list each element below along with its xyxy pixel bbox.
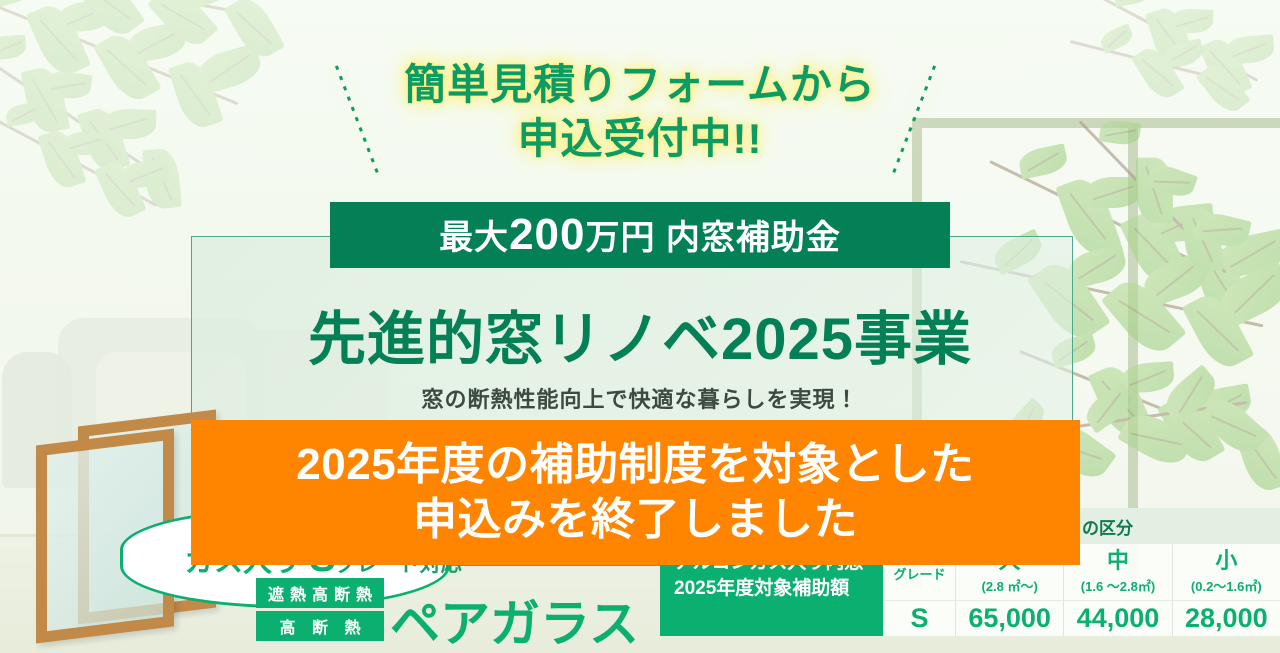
leaf-icon bbox=[0, 0, 38, 8]
leaf-icon bbox=[1097, 23, 1135, 53]
leaf-icon bbox=[1113, 0, 1154, 7]
size-range: (1.6 〜2.8㎡) bbox=[1081, 576, 1155, 595]
headline-line-1: 簡単見積りフォームから bbox=[0, 58, 1280, 112]
size-label: 中 bbox=[1107, 549, 1129, 573]
table-cell-value: 65,000 bbox=[956, 600, 1063, 636]
badge-amount: 200 bbox=[509, 210, 585, 259]
leaf-icon bbox=[1065, 243, 1130, 289]
table-cell-value: 44,000 bbox=[1064, 600, 1171, 636]
page-title: 先進的窓リノベ2025事業 bbox=[0, 292, 1280, 376]
size-range: (2.8 ㎡〜) bbox=[981, 576, 1037, 595]
closed-notice-line-2: 申込みを終了しました bbox=[296, 493, 974, 548]
feature-tag: 高 断 熱 bbox=[256, 611, 384, 641]
banner-root: 簡単見積りフォームから 申込受付中!! 最大200万円 内窓補助金 先進的窓リノ… bbox=[0, 0, 1280, 653]
table-cell-value: 28,000 bbox=[1173, 600, 1280, 636]
closed-notice-text: 2025年度の補助制度を対象とした 申込みを終了しました bbox=[296, 438, 974, 547]
size-range: (0.2〜1.6㎡) bbox=[1191, 576, 1262, 595]
closed-notice-overlay: 2025年度の補助制度を対象とした 申込みを終了しました bbox=[191, 420, 1080, 565]
feature-tags: 遮熱高断熱 高 断 熱 bbox=[256, 578, 384, 644]
headline: 簡単見積りフォームから 申込受付中!! bbox=[0, 58, 1280, 166]
table-column-head: 小 (0.2〜1.6㎡) bbox=[1173, 544, 1280, 600]
leaf-icon bbox=[1086, 177, 1141, 208]
headline-line-2: 申込受付中!! bbox=[0, 112, 1280, 166]
table-grade-header-label: グレード bbox=[893, 564, 945, 583]
subsidy-badge-text: 最大200万円 内窓補助金 bbox=[439, 210, 841, 260]
table-cell-grade: S bbox=[884, 600, 955, 636]
badge-suffix: 万円 内窓補助金 bbox=[585, 219, 840, 257]
subsidy-badge: 最大200万円 内窓補助金 bbox=[330, 202, 950, 268]
page-subtitle: 窓の断熱性能向上で快適な暮らしを実現！ bbox=[0, 382, 1280, 414]
leaf-icon bbox=[1169, 8, 1213, 34]
table-column-small: 小 (0.2〜1.6㎡) 28,000 bbox=[1172, 544, 1280, 636]
size-label: 小 bbox=[1215, 549, 1237, 573]
product-name: ペアガラス bbox=[390, 584, 639, 653]
feature-tag: 遮熱高断熱 bbox=[256, 578, 384, 608]
badge-prefix: 最大 bbox=[439, 219, 509, 257]
closed-notice-line-1: 2025年度の補助制度を対象とした bbox=[296, 438, 974, 493]
leaf-icon bbox=[0, 35, 27, 60]
table-column-head: 中 (1.6 〜2.8㎡) bbox=[1064, 544, 1171, 600]
table-label-line-2: 2025年度対象補助額 bbox=[674, 576, 875, 602]
